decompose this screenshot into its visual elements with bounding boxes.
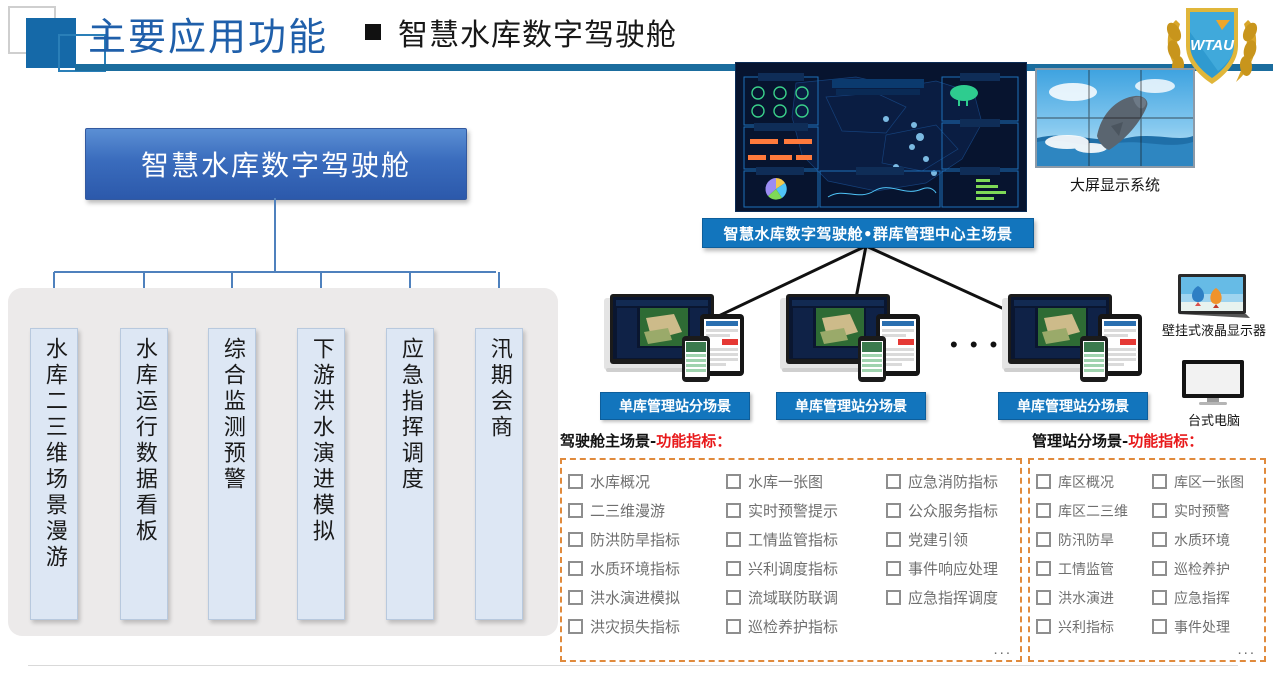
checkbox-icon[interactable] xyxy=(1152,503,1167,518)
device-group-0-label[interactable]: 单库管理站分场景 xyxy=(600,392,750,420)
left-panel-caption-black: 驾驶舱主场景- xyxy=(560,432,656,450)
cockpit-indicator-item-label: 公众服务指标 xyxy=(908,500,998,521)
device-group-1-label[interactable]: 单库管理站分场景 xyxy=(776,392,926,420)
right-panel-caption: 管理站分场景-功能指标： xyxy=(1032,430,1203,451)
checkbox-icon[interactable] xyxy=(886,590,901,605)
station-indicator-item[interactable]: 事件处理 xyxy=(1152,612,1264,641)
checkbox-icon[interactable] xyxy=(1036,503,1051,518)
cockpit-indicator-item[interactable]: 实时预警提示 xyxy=(726,496,886,525)
black-square-bullet-icon xyxy=(365,24,381,40)
checkbox-icon[interactable] xyxy=(1036,532,1051,547)
station-indicator-item-label: 应急指挥 xyxy=(1174,588,1230,608)
cockpit-indicator-item[interactable]: 党建引领 xyxy=(886,525,1026,554)
tree-node-1-label: 水库运行数据看板 xyxy=(132,337,156,545)
cockpit-indicator-item-label: 防洪防旱指标 xyxy=(590,529,680,550)
checkbox-icon[interactable] xyxy=(726,561,741,576)
checkbox-icon[interactable] xyxy=(568,590,583,605)
station-indicator-item-label: 事件处理 xyxy=(1174,617,1230,637)
checkbox-icon[interactable] xyxy=(726,590,741,605)
tree-node-2: 综合监测预警 xyxy=(208,328,256,620)
cockpit-indicator-item-label: 事件响应处理 xyxy=(908,558,998,579)
desktop-monitor-label: 台式电脑 xyxy=(1160,410,1268,429)
station-indicator-item[interactable]: 兴利指标 xyxy=(1036,612,1152,641)
cockpit-indicator-item[interactable]: 水库概况 xyxy=(568,467,726,496)
cockpit-indicator-item[interactable]: 巡检养护指标 xyxy=(726,612,886,641)
cockpit-indicator-grid: 水库概况水库一张图应急消防指标二三维漫游实时预警提示公众服务指标防洪防旱指标工情… xyxy=(568,467,1014,641)
checkbox-icon[interactable] xyxy=(886,503,901,518)
cockpit-indicator-item-label: 二三维漫游 xyxy=(590,500,665,521)
checkbox-icon[interactable] xyxy=(1036,561,1051,576)
wtau-logo-text: WTAU xyxy=(1190,37,1235,54)
cockpit-indicator-item[interactable]: 应急消防指标 xyxy=(886,467,1026,496)
checkbox-icon[interactable] xyxy=(726,474,741,489)
checkbox-icon[interactable] xyxy=(886,474,901,489)
device-group-2-label[interactable]: 单库管理站分场景 xyxy=(998,392,1148,420)
video-wall-label: 大屏显示系统 xyxy=(1030,174,1200,195)
cockpit-indicator-item-label: 实时预警提示 xyxy=(748,500,838,521)
checkbox-icon[interactable] xyxy=(1036,474,1051,489)
right-panel-caption-red: 功能指标： xyxy=(1128,432,1203,450)
station-indicator-item-label: 实时预警 xyxy=(1174,501,1230,521)
cockpit-indicator-item-label: 洪灾损失指标 xyxy=(590,616,680,637)
footer-divider xyxy=(28,665,1238,666)
cockpit-indicator-item-label: 水库概况 xyxy=(590,471,650,492)
cockpit-indicator-item[interactable]: 洪灾损失指标 xyxy=(568,612,726,641)
checkbox-icon[interactable] xyxy=(1152,619,1167,634)
cockpit-indicator-item-label: 水质环境指标 xyxy=(590,558,680,579)
checkbox-icon[interactable] xyxy=(1152,590,1167,605)
tree-node-0: 水库二三维场景漫游 xyxy=(30,328,78,620)
station-indicator-item-label: 库区概况 xyxy=(1058,472,1114,492)
cockpit-indicator-item-label: 流域联防联调 xyxy=(748,587,838,608)
cockpit-indicator-panel: 水库概况水库一张图应急消防指标二三维漫游实时预警提示公众服务指标防洪防旱指标工情… xyxy=(560,458,1022,662)
checkbox-icon[interactable] xyxy=(568,532,583,547)
device-group-1-label-text: 单库管理站分场景 xyxy=(795,396,907,416)
device-group-0-label-text: 单库管理站分场景 xyxy=(619,396,731,416)
station-indicator-item[interactable]: 巡检养护 xyxy=(1152,554,1264,583)
cockpit-indicator-item-label: 洪水演进模拟 xyxy=(590,587,680,608)
checkbox-icon[interactable] xyxy=(568,503,583,518)
station-indicator-item-label: 库区一张图 xyxy=(1174,472,1244,492)
station-indicator-item[interactable]: 库区一张图 xyxy=(1152,467,1264,496)
checkbox-icon[interactable] xyxy=(886,561,901,576)
right-panel-caption-black: 管理站分场景- xyxy=(1032,432,1128,450)
cockpit-indicator-item[interactable]: 水库一张图 xyxy=(726,467,886,496)
device-group-1 xyxy=(776,292,924,384)
checkbox-icon[interactable] xyxy=(726,532,741,547)
cockpit-indicator-item[interactable]: 二三维漫游 xyxy=(568,496,726,525)
right-panel-more: ... xyxy=(1237,641,1256,658)
station-indicator-item[interactable]: 防汛防旱 xyxy=(1036,525,1152,554)
page-title: 主要应用功能 xyxy=(88,6,328,61)
main-scene-banner-label: 智慧水库数字驾驶舱•群库管理中心主场景 xyxy=(723,223,1012,244)
left-panel-more: ... xyxy=(993,641,1012,658)
tree-node-4-label: 应急指挥调度 xyxy=(398,337,422,493)
cockpit-indicator-item-label: 党建引领 xyxy=(908,529,968,550)
station-indicator-item-label: 巡检养护 xyxy=(1174,559,1230,579)
tree-node-5: 汛期会商 xyxy=(475,328,523,620)
desktop-monitor-icon xyxy=(1180,358,1246,408)
wall-monitor-icon xyxy=(1176,272,1250,322)
station-indicator-item[interactable]: 库区概况 xyxy=(1036,467,1152,496)
device-group-2 xyxy=(998,292,1146,384)
tree-root-node: 智慧水库数字驾驶舱 xyxy=(85,128,467,200)
checkbox-icon[interactable] xyxy=(568,474,583,489)
checkbox-icon[interactable] xyxy=(726,619,741,634)
station-indicator-item[interactable]: 工情监管 xyxy=(1036,554,1152,583)
cockpit-indicator-item[interactable]: 流域联防联调 xyxy=(726,583,886,612)
tree-node-3: 下游洪水演进模拟 xyxy=(297,328,345,620)
dashboard-screenshot xyxy=(735,62,1027,212)
slide-root: 主要应用功能 智慧水库数字驾驶舱 WTAU 智慧水库数 xyxy=(0,0,1273,674)
station-indicator-item[interactable]: 洪水演进 xyxy=(1036,583,1152,612)
station-indicator-item-label: 库区二三维 xyxy=(1058,501,1128,521)
tree-root-label: 智慧水库数字驾驶舱 xyxy=(141,144,411,184)
checkbox-icon[interactable] xyxy=(1152,474,1167,489)
cockpit-indicator-item[interactable]: 公众服务指标 xyxy=(886,496,1026,525)
cockpit-indicator-item[interactable]: 水质环境指标 xyxy=(568,554,726,583)
checkbox-icon[interactable] xyxy=(1152,532,1167,547)
checkbox-icon[interactable] xyxy=(1036,619,1051,634)
station-indicator-item[interactable]: 应急指挥 xyxy=(1152,583,1264,612)
cockpit-indicator-item xyxy=(886,612,1026,641)
cockpit-indicator-item-label: 应急指挥调度 xyxy=(908,587,998,608)
cockpit-indicator-item-label: 兴利调度指标 xyxy=(748,558,838,579)
station-indicator-item-label: 兴利指标 xyxy=(1058,617,1114,637)
checkbox-icon[interactable] xyxy=(1152,561,1167,576)
cockpit-indicator-item[interactable]: 事件响应处理 xyxy=(886,554,1026,583)
checkbox-icon[interactable] xyxy=(1036,590,1051,605)
left-panel-caption: 驾驶舱主场景-功能指标： xyxy=(560,430,731,451)
cockpit-indicator-item[interactable]: 兴利调度指标 xyxy=(726,554,886,583)
station-indicator-item-label: 水质环境 xyxy=(1174,530,1230,550)
checkbox-icon[interactable] xyxy=(568,561,583,576)
main-scene-banner[interactable]: 智慧水库数字驾驶舱•群库管理中心主场景 xyxy=(702,218,1034,248)
cockpit-indicator-item-label: 应急消防指标 xyxy=(908,471,998,492)
cockpit-indicator-item-label: 巡检养护指标 xyxy=(748,616,838,637)
cockpit-indicator-item[interactable]: 防洪防旱指标 xyxy=(568,525,726,554)
left-panel-caption-red: 功能指标： xyxy=(656,432,731,450)
checkbox-icon[interactable] xyxy=(726,503,741,518)
tree-node-5-label: 汛期会商 xyxy=(487,337,511,441)
cockpit-indicator-item[interactable]: 应急指挥调度 xyxy=(886,583,1026,612)
page-subtitle: 智慧水库数字驾驶舱 xyxy=(398,10,677,54)
tree-node-4: 应急指挥调度 xyxy=(386,328,434,620)
cockpit-indicator-item-label: 工情监管指标 xyxy=(748,529,838,550)
station-indicator-item-label: 工情监管 xyxy=(1058,559,1114,579)
station-indicator-grid: 库区概况库区一张图库区二三维实时预警防汛防旱水质环境工情监管巡检养护洪水演进应急… xyxy=(1036,467,1258,641)
tree-node-1: 水库运行数据看板 xyxy=(120,328,168,620)
station-indicator-item-label: 洪水演进 xyxy=(1058,588,1114,608)
station-indicator-item[interactable]: 库区二三维 xyxy=(1036,496,1152,525)
video-wall-display xyxy=(1035,68,1195,168)
device-group-0 xyxy=(600,292,748,384)
cockpit-indicator-item[interactable]: 洪水演进模拟 xyxy=(568,583,726,612)
device-group-2-label-text: 单库管理站分场景 xyxy=(1017,396,1129,416)
station-indicator-panel: 库区概况库区一张图库区二三维实时预警防汛防旱水质环境工情监管巡检养护洪水演进应急… xyxy=(1028,458,1266,662)
cockpit-indicator-item-label: 水库一张图 xyxy=(748,471,823,492)
station-indicator-item-label: 防汛防旱 xyxy=(1058,530,1114,550)
checkbox-icon[interactable] xyxy=(568,619,583,634)
wall-monitor-label: 壁挂式液晶显示器 xyxy=(1160,324,1268,340)
tree-node-3-label: 下游洪水演进模拟 xyxy=(309,337,333,545)
tree-node-0-label: 水库二三维场景漫游 xyxy=(42,337,66,571)
station-indicator-item[interactable]: 水质环境 xyxy=(1152,525,1264,554)
cockpit-indicator-item[interactable]: 工情监管指标 xyxy=(726,525,886,554)
station-indicator-item[interactable]: 实时预警 xyxy=(1152,496,1264,525)
checkbox-icon[interactable] xyxy=(886,532,901,547)
device-groups-ellipsis: • • • xyxy=(950,332,1000,358)
tree-node-2-label: 综合监测预警 xyxy=(220,337,244,493)
